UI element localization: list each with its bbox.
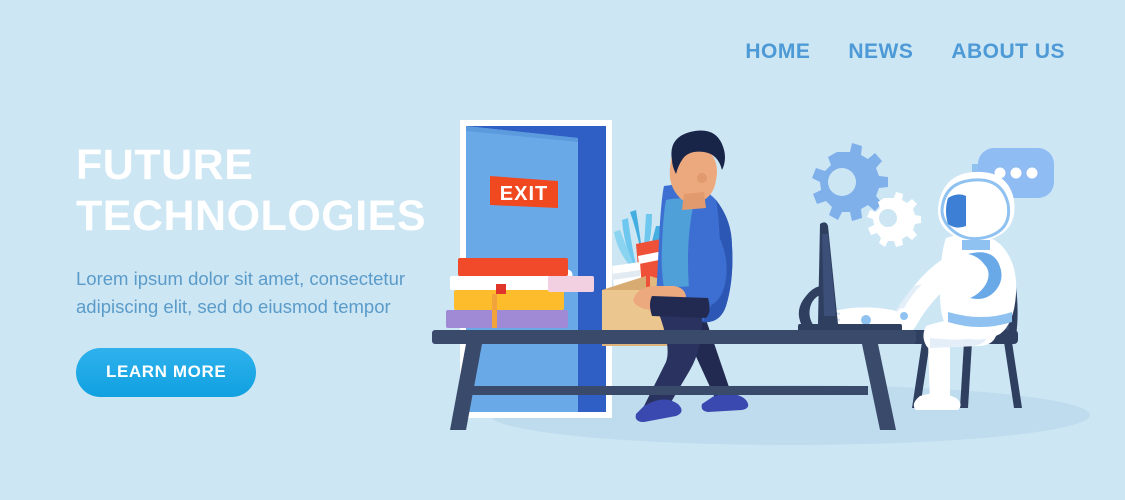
- man-leaving: [602, 131, 748, 423]
- headline-line-2: TECHNOLOGIES: [76, 191, 476, 242]
- nav-item-home[interactable]: HOME: [745, 40, 810, 64]
- laptop-screen-inner: [822, 234, 836, 316]
- page-title: FUTURE TECHNOLOGIES: [76, 140, 476, 241]
- book-stack-red: [458, 258, 568, 276]
- speech-dot-3: [1027, 168, 1038, 179]
- headline-line-1: FUTURE: [76, 140, 476, 191]
- book-bookmark: [496, 284, 506, 294]
- desk-crossbar: [466, 386, 868, 395]
- gear-large-icon: [812, 143, 888, 221]
- robot-antenna: [972, 164, 978, 172]
- book-stack-purple: [446, 310, 568, 328]
- subtitle-line-2: adipiscing elit, sed do eiusmod tempor: [76, 293, 456, 320]
- book-stack-pink: [548, 276, 594, 292]
- man-hips: [650, 296, 710, 318]
- pencil: [492, 294, 497, 328]
- top-navigation: HOME NEWS ABOUT US: [745, 40, 1065, 64]
- learn-more-button[interactable]: LEARN MORE: [76, 348, 256, 397]
- nav-item-about-us[interactable]: ABOUT US: [951, 40, 1065, 64]
- exit-sign: EXIT: [490, 176, 558, 208]
- book-stack-yellow: [454, 290, 564, 310]
- robot-hand-dot: [861, 315, 871, 325]
- robot-visor-icon: [946, 194, 966, 227]
- robot-elbow-dot: [900, 312, 908, 320]
- nav-item-news[interactable]: NEWS: [848, 40, 913, 64]
- man-ear: [697, 173, 707, 183]
- hero-copy: FUTURE TECHNOLOGIES Lorem ipsum dolor si…: [76, 140, 476, 397]
- exit-sign-label: EXIT: [500, 183, 548, 205]
- robot-neck: [962, 240, 990, 250]
- subtitle-line-1: Lorem ipsum dolor sit amet, consectetur: [76, 265, 456, 292]
- banner-root: HOME NEWS ABOUT US FUTURE TECHNOLOGIES L…: [0, 0, 1125, 500]
- robot-eye-icon: [973, 191, 1007, 225]
- hero-illustration: EXIT: [430, 90, 1090, 460]
- man-neck: [682, 192, 706, 210]
- hero-subtitle: Lorem ipsum dolor sit amet, consectetur …: [76, 265, 456, 320]
- speech-dot-2: [1011, 168, 1022, 179]
- desk-top: [432, 330, 916, 344]
